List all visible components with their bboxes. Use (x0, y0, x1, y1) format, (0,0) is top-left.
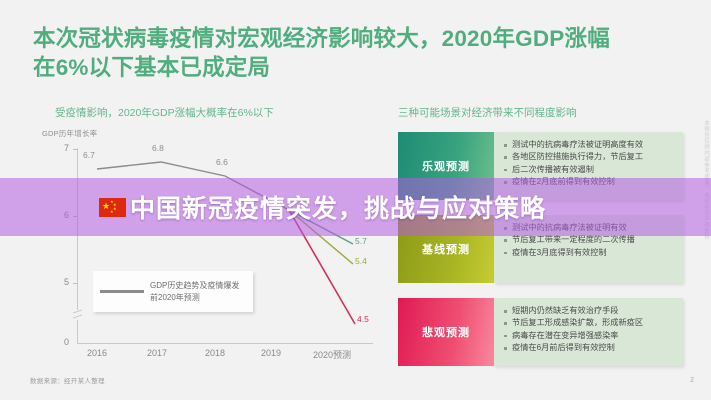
data-label-2018: 6.6 (216, 157, 228, 167)
list-item: 节后复工带来一定程度的二次传播 (503, 234, 675, 246)
overlay-banner: ★ ★ ★ ★ ★ 中国新冠疫情突发，挑战与应对策略 (0, 178, 711, 236)
data-label-2016: 6.7 (83, 150, 95, 160)
overlay-headline: 中国新冠疫情突发，挑战与应对策略 (130, 189, 546, 225)
chart-legend: GDP历史趋势及疫情爆发前2020年预测 (93, 271, 253, 312)
subhead-left: 受疫情影响，2020年GDP涨幅大概率在6%以下 (55, 105, 274, 120)
slide-title: 本次冠状病毒疫情对宏观经济影响较大，2020年GDP涨幅 在6%以下基本已成定局 (33, 24, 683, 82)
flag-star-small: ★ (110, 210, 114, 214)
list-item: 疫情在6月前后得到有效控制 (503, 342, 675, 354)
slide-title-line1: 本次冠状病毒疫情对宏观经济影响较大，2020年GDP涨幅 (33, 26, 610, 51)
chart-series-lines (33, 128, 378, 373)
slide-canvas: 本次冠状病毒疫情对宏观经济影响较大，2020年GDP涨幅 在6%以下基本已成定局… (0, 0, 711, 400)
list-item: 各地区防控措施执行得力，节后复工 (503, 151, 675, 163)
subhead-right: 三种可能场景对经济带来不同程度影响 (398, 105, 577, 120)
scenario-tag-pessimistic: 悲观预测 (398, 298, 494, 366)
page-number: 2 (690, 377, 694, 384)
legend-swatch-historical (100, 290, 144, 293)
list-item: 疫情在3月底得到有效控制 (503, 247, 675, 259)
slide-title-line2: 在6%以下基本已成定局 (33, 53, 683, 82)
list-item: 病毒存在潜在变异增强感染率 (503, 330, 675, 342)
flag-star-large: ★ (102, 202, 110, 211)
list-item: 测试中的抗病毒疗法被证明高度有效 (503, 139, 675, 151)
china-flag-icon: ★ ★ ★ ★ ★ (99, 198, 126, 217)
legend-label-historical: GDP历史趋势及疫情爆发前2020年预测 (150, 280, 246, 304)
source-note: 数据来源：经开某人整理 (30, 375, 105, 385)
data-label-baseline: 5.4 (355, 256, 367, 266)
gdp-line-chart: GDP历年增长率 7 6 5 0 2016 2017 2018 2019 202… (33, 128, 378, 373)
data-label-pessimistic: 4.5 (357, 314, 369, 324)
data-label-2017: 6.8 (152, 143, 164, 153)
scenario-pessimistic[interactable]: 悲观预测 短期内仍然缺乏有效治疗手段 节后复工形成感染扩散，形成新疫区 病毒存在… (398, 298, 683, 366)
data-label-optimistic: 5.7 (355, 236, 367, 246)
list-item: 后二次传播被有效遏制 (503, 164, 675, 176)
scenario-body-pessimistic: 短期内仍然缺乏有效治疗手段 节后复工形成感染扩散，形成新疫区 病毒存在潜在变异增… (494, 298, 683, 366)
list-item: 短期内仍然缺乏有效治疗手段 (503, 305, 675, 317)
list-item: 节后复工形成感染扩散，形成新疫区 (503, 317, 675, 329)
